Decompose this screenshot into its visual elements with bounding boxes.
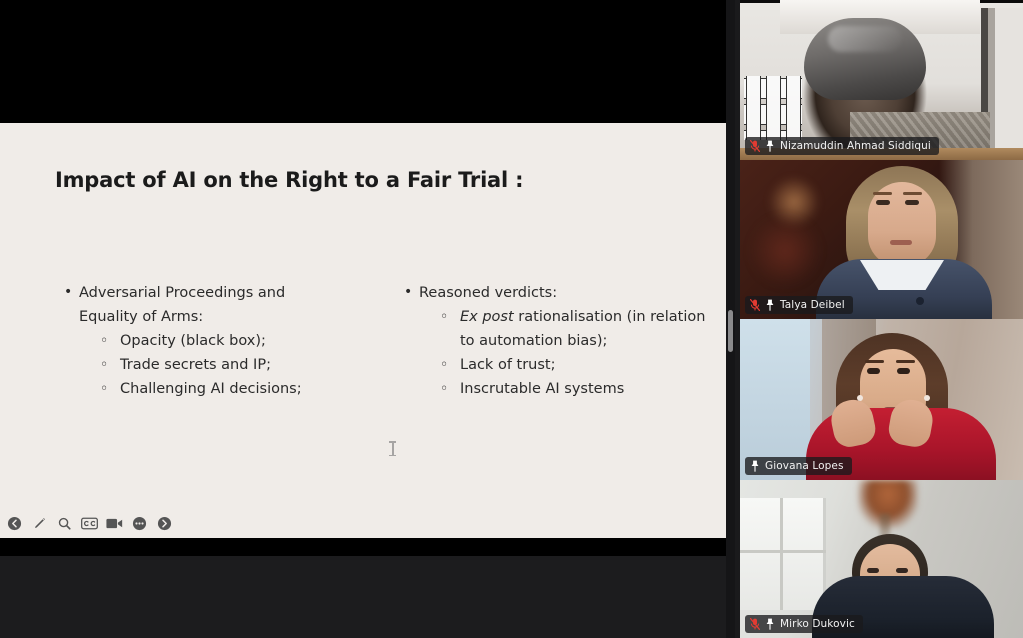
sub-bullet: Lack of trust; — [440, 353, 712, 377]
participant-name: Talya Deibel — [780, 299, 845, 311]
slide-column-left: Adversarial Proceedings and Equality of … — [62, 281, 392, 401]
participant-tile[interactable]: Talya Deibel — [740, 160, 1023, 319]
video-camera-icon[interactable] — [106, 515, 123, 532]
participant-video — [740, 319, 1023, 480]
sub-bullet: Challenging AI decisions; — [100, 377, 392, 401]
participant-name-badge: Mirko Dukovic — [745, 615, 863, 633]
sub-bullet: Trade secrets and IP; — [100, 353, 392, 377]
bullet-line-2: Equality of Arms: — [79, 309, 203, 325]
bullet-level1: Reasoned verdicts: — [402, 281, 712, 305]
participant-video — [740, 0, 1023, 160]
participant-name: Mirko Dukovic — [780, 618, 855, 630]
bullet-line-1: Reasoned verdicts: — [419, 285, 557, 301]
sub-bullet: Inscrutable AI systems — [440, 377, 712, 401]
filmstrip-scrollbar[interactable] — [726, 0, 735, 638]
participant-tile[interactable]: Mirko Dukovic — [740, 480, 1023, 638]
presentation-slide[interactable]: Impact of AI on the Right to a Fair Tria… — [0, 123, 733, 538]
shared-screen-stage[interactable]: Impact of AI on the Right to a Fair Tria… — [0, 0, 733, 638]
sub-bullet: Opacity (black box); — [100, 329, 392, 353]
stage-letterbox-bottom — [0, 556, 733, 638]
participant-name-badge: Talya Deibel — [745, 296, 853, 314]
participant-filmstrip[interactable]: Nizamuddin Ahmad Siddiqui — [740, 0, 1023, 638]
participant-name-badge: Nizamuddin Ahmad Siddiqui — [745, 137, 939, 155]
participant-name: Nizamuddin Ahmad Siddiqui — [780, 140, 931, 152]
text-cursor-icon — [389, 441, 396, 456]
forward-button[interactable] — [156, 515, 173, 532]
participant-tile-active-speaker[interactable]: Giovana Lopes — [740, 319, 1023, 480]
screen-share-toolbar[interactable] — [2, 513, 177, 534]
microphone-muted-icon — [750, 140, 760, 152]
sub-bullet-italic: Ex post — [460, 309, 514, 325]
sub-bullets-left: Opacity (black box); Trade secrets and I… — [62, 329, 392, 401]
sub-bullet: Ex post rationalisation (in relation to … — [440, 305, 712, 353]
bullet-level1: Adversarial Proceedings and Equality of … — [62, 281, 392, 329]
pin-icon — [765, 618, 775, 630]
pin-icon — [765, 299, 775, 311]
participant-name-badge: Giovana Lopes — [745, 457, 852, 475]
slide-column-right: Reasoned verdicts: Ex post rationalisati… — [402, 281, 712, 401]
back-button[interactable] — [6, 515, 23, 532]
bullet-line-1: Adversarial Proceedings and — [79, 285, 285, 301]
zoom-meeting-window: Impact of AI on the Right to a Fair Tria… — [0, 0, 1023, 638]
participant-tile[interactable]: Nizamuddin Ahmad Siddiqui — [740, 0, 1023, 160]
pen-icon[interactable] — [31, 515, 48, 532]
pin-icon — [765, 140, 775, 152]
presentation-frame: Impact of AI on the Right to a Fair Tria… — [0, 88, 733, 556]
microphone-muted-icon — [750, 299, 760, 311]
microphone-muted-icon — [750, 618, 760, 630]
sub-bullets-right: Ex post rationalisation (in relation to … — [402, 305, 712, 401]
filmstrip-scrollbar-thumb[interactable] — [728, 310, 733, 352]
participant-name: Giovana Lopes — [765, 460, 844, 472]
magnifier-icon[interactable] — [56, 515, 73, 532]
pin-icon — [750, 460, 760, 472]
stage-letterbox-top — [0, 0, 733, 88]
ellipsis-circle-icon[interactable] — [131, 515, 148, 532]
closed-caption-icon[interactable] — [81, 515, 98, 532]
slide-title: Impact of AI on the Right to a Fair Tria… — [55, 168, 523, 192]
